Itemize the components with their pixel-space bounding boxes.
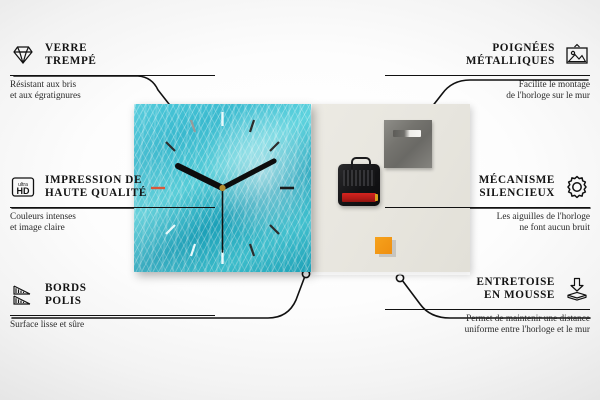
diamond-icon [10, 42, 36, 68]
hands-center-cap [219, 185, 225, 191]
infographic-canvas: VERRE TREMPÉ Résistant aux bris et aux é… [0, 0, 600, 400]
feature-title: ENTRETOISE EN MOUSSE [476, 276, 555, 303]
gear-icon [564, 174, 590, 200]
feature-title: POIGNÉES MÉTALLIQUES [466, 42, 555, 69]
feature-subtitle: Les aiguilles de l'horloge ne font aucun… [385, 212, 590, 235]
aa-battery [342, 193, 376, 202]
feature-header: ultra HD IMPRESSION DE HAUTE QUALITÉ [10, 170, 215, 204]
feature-title: VERRE TREMPÉ [45, 42, 96, 69]
feature-header: POIGNÉES MÉTALLIQUES [385, 38, 590, 72]
feature-title: BORDS POLIS [45, 282, 87, 309]
divider [10, 75, 215, 76]
foam-spacer-icon [564, 276, 590, 302]
minute-hand [223, 161, 275, 188]
feature-subtitle: Résistant aux bris et aux égratignures [10, 80, 215, 103]
feature-bords-polis: BORDS POLIS Surface lisse et sûre [10, 278, 215, 331]
feature-subtitle: Surface lisse et sûre [10, 320, 215, 331]
feature-impression-haute-qualite: ultra HD IMPRESSION DE HAUTE QUALITÉ Cou… [10, 170, 215, 235]
divider [385, 75, 590, 76]
hanger-slot [393, 130, 421, 137]
feature-subtitle: Permet de maintenir une distance uniform… [385, 314, 590, 337]
divider [10, 315, 215, 316]
feature-header: ENTRETOISE EN MOUSSE [385, 272, 590, 306]
mechanism-hanging-loop [351, 157, 371, 169]
mechanism-detail [343, 170, 375, 186]
feature-poignees-metalliques: POIGNÉES MÉTALLIQUES Facilite le montage… [385, 38, 590, 103]
feature-title: MÉCANISME SILENCIEUX [479, 174, 555, 201]
divider [385, 207, 590, 208]
divider [385, 309, 590, 310]
feature-header: BORDS POLIS [10, 278, 215, 312]
feature-verre-trempe: VERRE TREMPÉ Résistant aux bris et aux é… [10, 38, 215, 103]
foam-spacer-pad [375, 237, 392, 254]
ultra-hd-icon: ultra HD [10, 174, 36, 200]
feature-title: IMPRESSION DE HAUTE QUALITÉ [45, 174, 147, 201]
feature-header: VERRE TREMPÉ [10, 38, 215, 72]
divider [10, 207, 215, 208]
feature-subtitle: Couleurs intenses et image claire [10, 212, 215, 235]
feature-mecanisme-silencieux: MÉCANISME SILENCIEUX Les aiguilles de l'… [385, 170, 590, 235]
clock-mechanism-box [338, 164, 380, 206]
feature-header: MÉCANISME SILENCIEUX [385, 170, 590, 204]
svg-text:HD: HD [17, 186, 30, 196]
feature-subtitle: Facilite le montage de l'horloge sur le … [385, 80, 590, 103]
metal-hanger-plate [384, 120, 432, 168]
polished-edges-icon [10, 282, 36, 308]
feature-entretoise-en-mousse: ENTRETOISE EN MOUSSE Permet de maintenir… [385, 272, 590, 337]
picture-hanger-icon [564, 42, 590, 68]
